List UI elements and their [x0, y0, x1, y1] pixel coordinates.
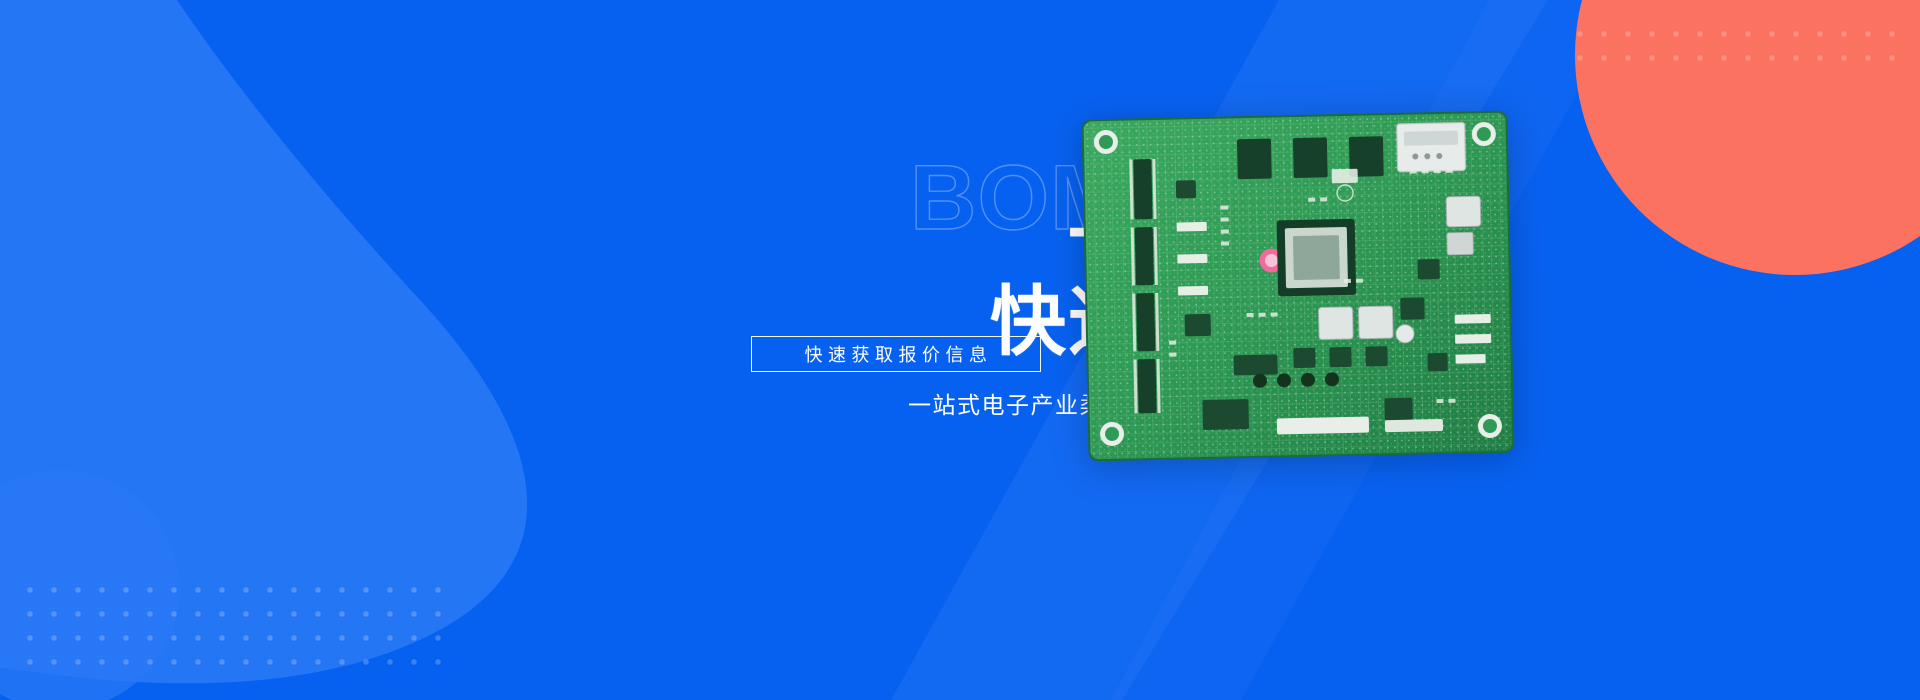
dot-grid-top-right [1568, 22, 1898, 68]
pcb-board-image [1078, 108, 1517, 465]
subtitle-badge-label: 快速获取报价信息 [800, 341, 993, 367]
dot-grid-bottom-left [18, 578, 448, 672]
pcb-board-graphic [1078, 108, 1517, 465]
subtitle-badge: 快速获取报价信息 [751, 336, 1041, 372]
promo-banner: BOMBOM 一分钟 快速报价 快速获取报价信息 一站式电子产业柔性“智”造服务… [0, 0, 1920, 700]
